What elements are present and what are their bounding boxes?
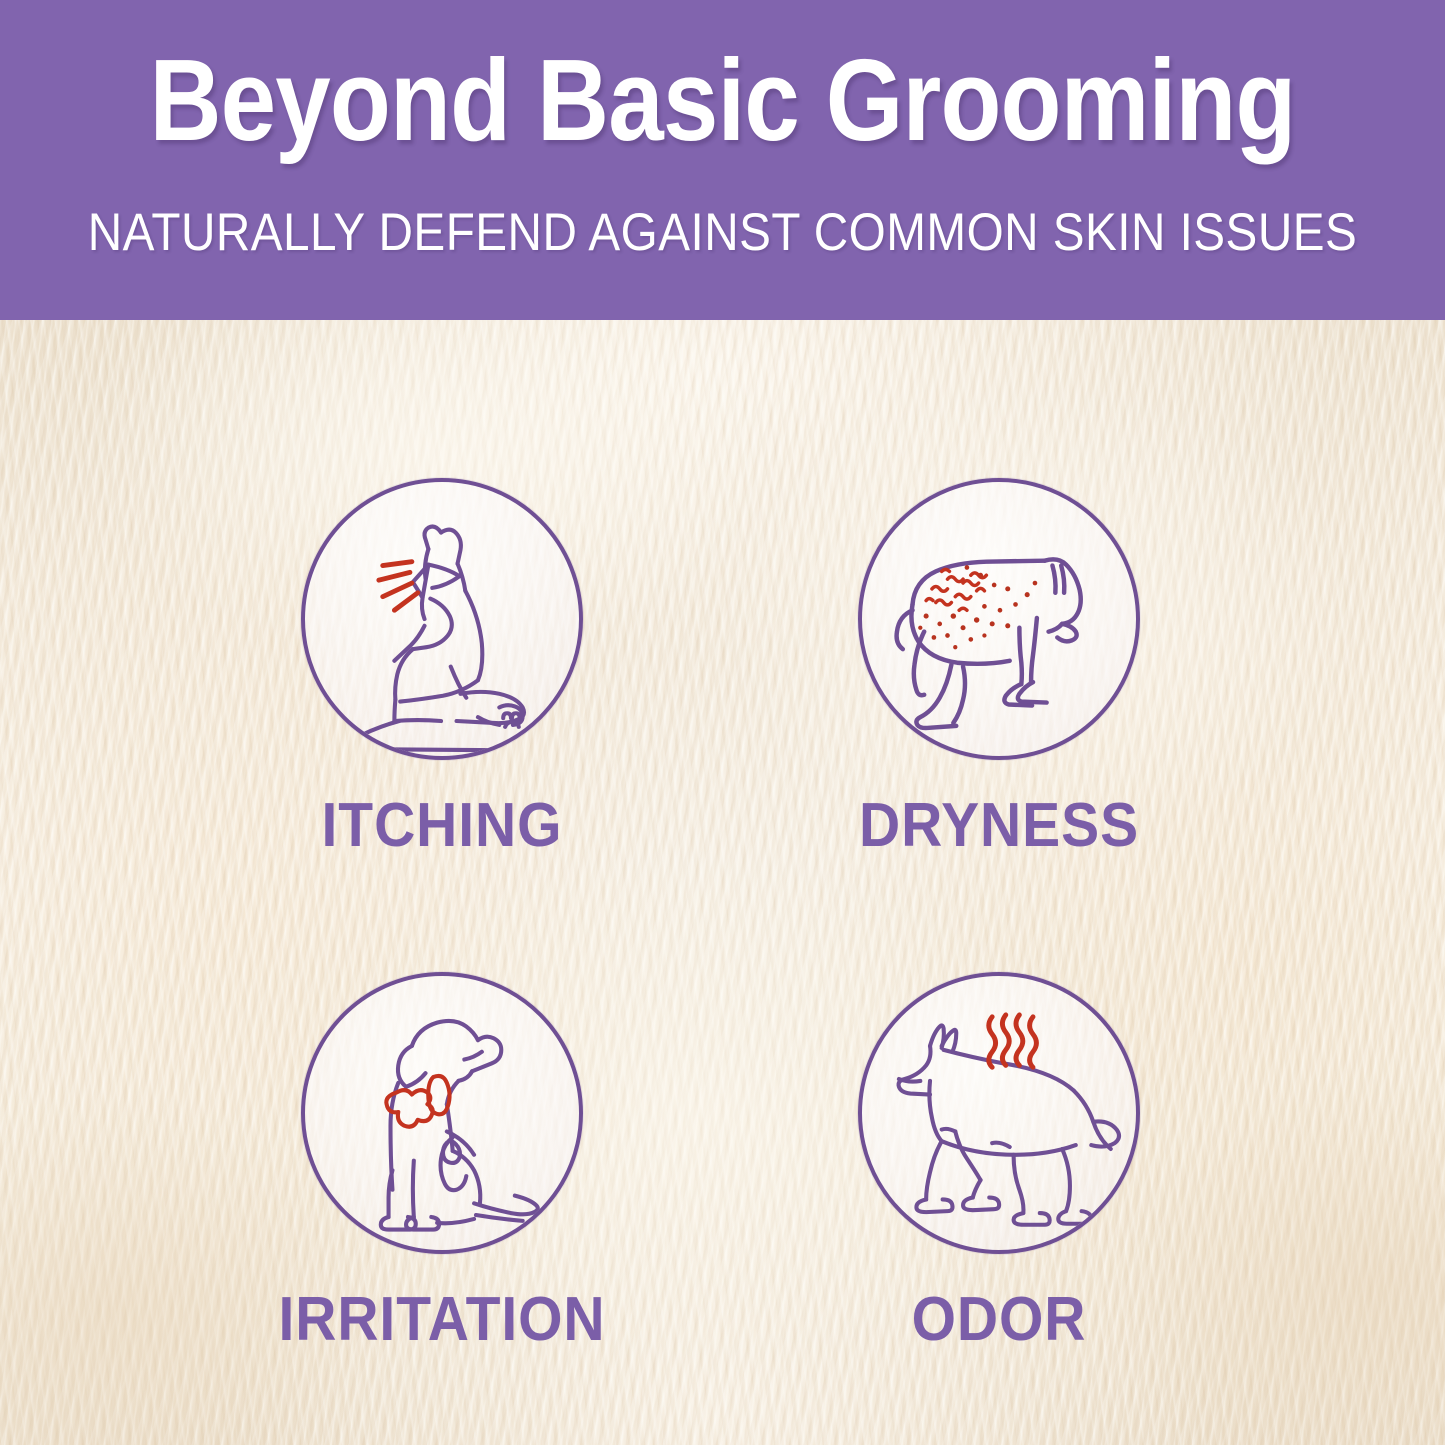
- feature-item-dryness: DRYNESS: [719, 478, 1279, 858]
- feature-item-itching: ITCHING: [162, 478, 722, 858]
- odor-wave-lines: [989, 1015, 1037, 1067]
- feature-item-odor: ODOR: [719, 972, 1279, 1352]
- feature-label-itching: ITCHING: [184, 794, 699, 858]
- page-subtitle: NATURALLY DEFEND AGAINST COMMON SKIN ISS…: [72, 205, 1373, 261]
- dog-odor-waves-icon: [862, 976, 1136, 1250]
- infographic-page: Beyond Basic Grooming NATURALLY DEFEND A…: [0, 0, 1445, 1445]
- feature-label-irritation: IRRITATION: [184, 1288, 699, 1352]
- feature-label-dryness: DRYNESS: [741, 794, 1256, 858]
- header-band: Beyond Basic Grooming NATURALLY DEFEND A…: [0, 0, 1445, 320]
- dog-irritated-skin-patch-icon: [305, 976, 579, 1250]
- icon-circle-dryness: [858, 478, 1140, 760]
- dog-dander-flakes-icon: [862, 482, 1136, 756]
- page-title: Beyond Basic Grooming: [101, 42, 1344, 158]
- feature-item-irritation: IRRITATION: [162, 972, 722, 1352]
- icon-circle-irritation: [301, 972, 583, 1254]
- dog-scratching-ear-icon: [305, 482, 579, 756]
- icon-circle-odor: [858, 972, 1140, 1254]
- icon-circle-itching: [301, 478, 583, 760]
- itch-burst-lines: [379, 562, 418, 611]
- dander-squiggles: [926, 569, 986, 610]
- feature-label-odor: ODOR: [741, 1288, 1256, 1352]
